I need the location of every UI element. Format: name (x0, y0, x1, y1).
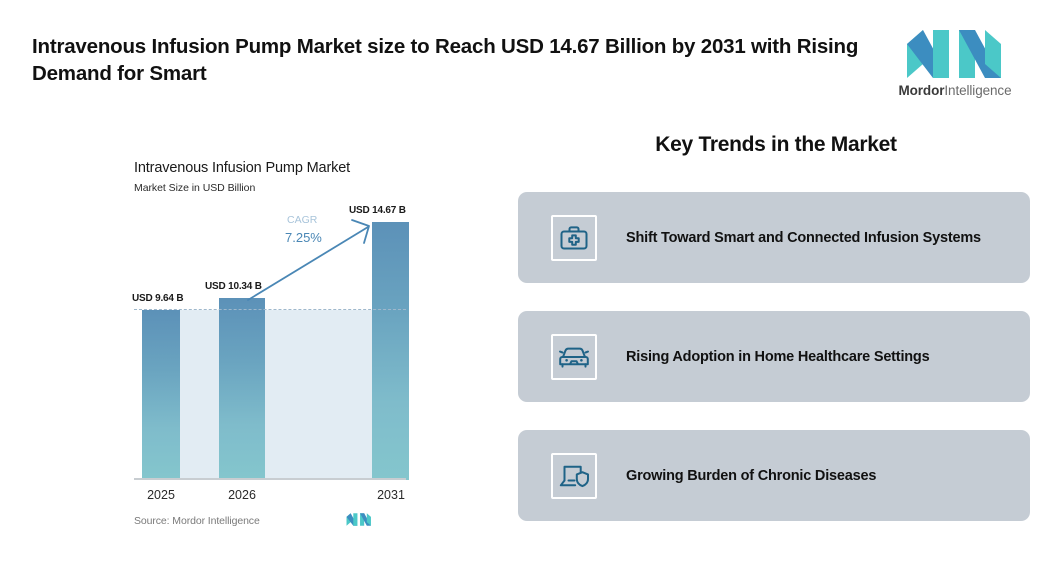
chart-plot-area: USD 9.64 B USD 10.34 B USD 14.67 B CAGR … (134, 210, 404, 480)
logo-word-mordor: Mordor (898, 83, 944, 98)
car-front-icon (551, 334, 597, 380)
trend-card-chronic-diseases[interactable]: Growing Burden of Chronic Diseases (518, 430, 1030, 521)
trend-card-text: Rising Adoption in Home Healthcare Setti… (626, 346, 929, 368)
mordor-logo-mark (905, 30, 1005, 78)
trend-card-home-healthcare[interactable]: Rising Adoption in Home Healthcare Setti… (518, 311, 1030, 402)
key-trends-panel: Key Trends in the Market Shift Toward Sm… (518, 125, 1030, 545)
mordor-logo-wordmark: MordorIntelligence (885, 83, 1025, 98)
trend-card-smart-connected[interactable]: Shift Toward Smart and Connected Infusio… (518, 192, 1030, 283)
chart-xtick-2025: 2025 (139, 488, 183, 502)
trend-card-text: Shift Toward Smart and Connected Infusio… (626, 227, 981, 249)
header: Intravenous Infusion Pump Market size to… (0, 0, 1056, 118)
trend-card-text: Growing Burden of Chronic Diseases (626, 465, 876, 487)
mordor-intelligence-logo: MordorIntelligence (885, 30, 1025, 106)
chart-growth-arrow (134, 210, 406, 482)
chart-subtitle: Market Size in USD Billion (134, 182, 255, 194)
logo-word-intelligence: Intelligence (944, 83, 1011, 98)
key-trends-card-list: Shift Toward Smart and Connected Infusio… (518, 192, 1030, 549)
chart-title: Intravenous Infusion Pump Market (134, 160, 350, 176)
chart-xtick-2031: 2031 (369, 488, 413, 502)
chart-panel: Intravenous Infusion Pump Market Market … (118, 150, 418, 550)
chart-source-logo-mark (346, 512, 372, 527)
chart-xtick-2026: 2026 (220, 488, 264, 502)
medical-kit-icon (551, 215, 597, 261)
key-trends-title: Key Trends in the Market (536, 133, 1016, 157)
page-title: Intravenous Infusion Pump Market size to… (32, 33, 862, 87)
laptop-shield-icon (551, 453, 597, 499)
infographic-page: Intravenous Infusion Pump Market size to… (0, 0, 1056, 570)
chart-source: Source: Mordor Intelligence (134, 515, 260, 527)
